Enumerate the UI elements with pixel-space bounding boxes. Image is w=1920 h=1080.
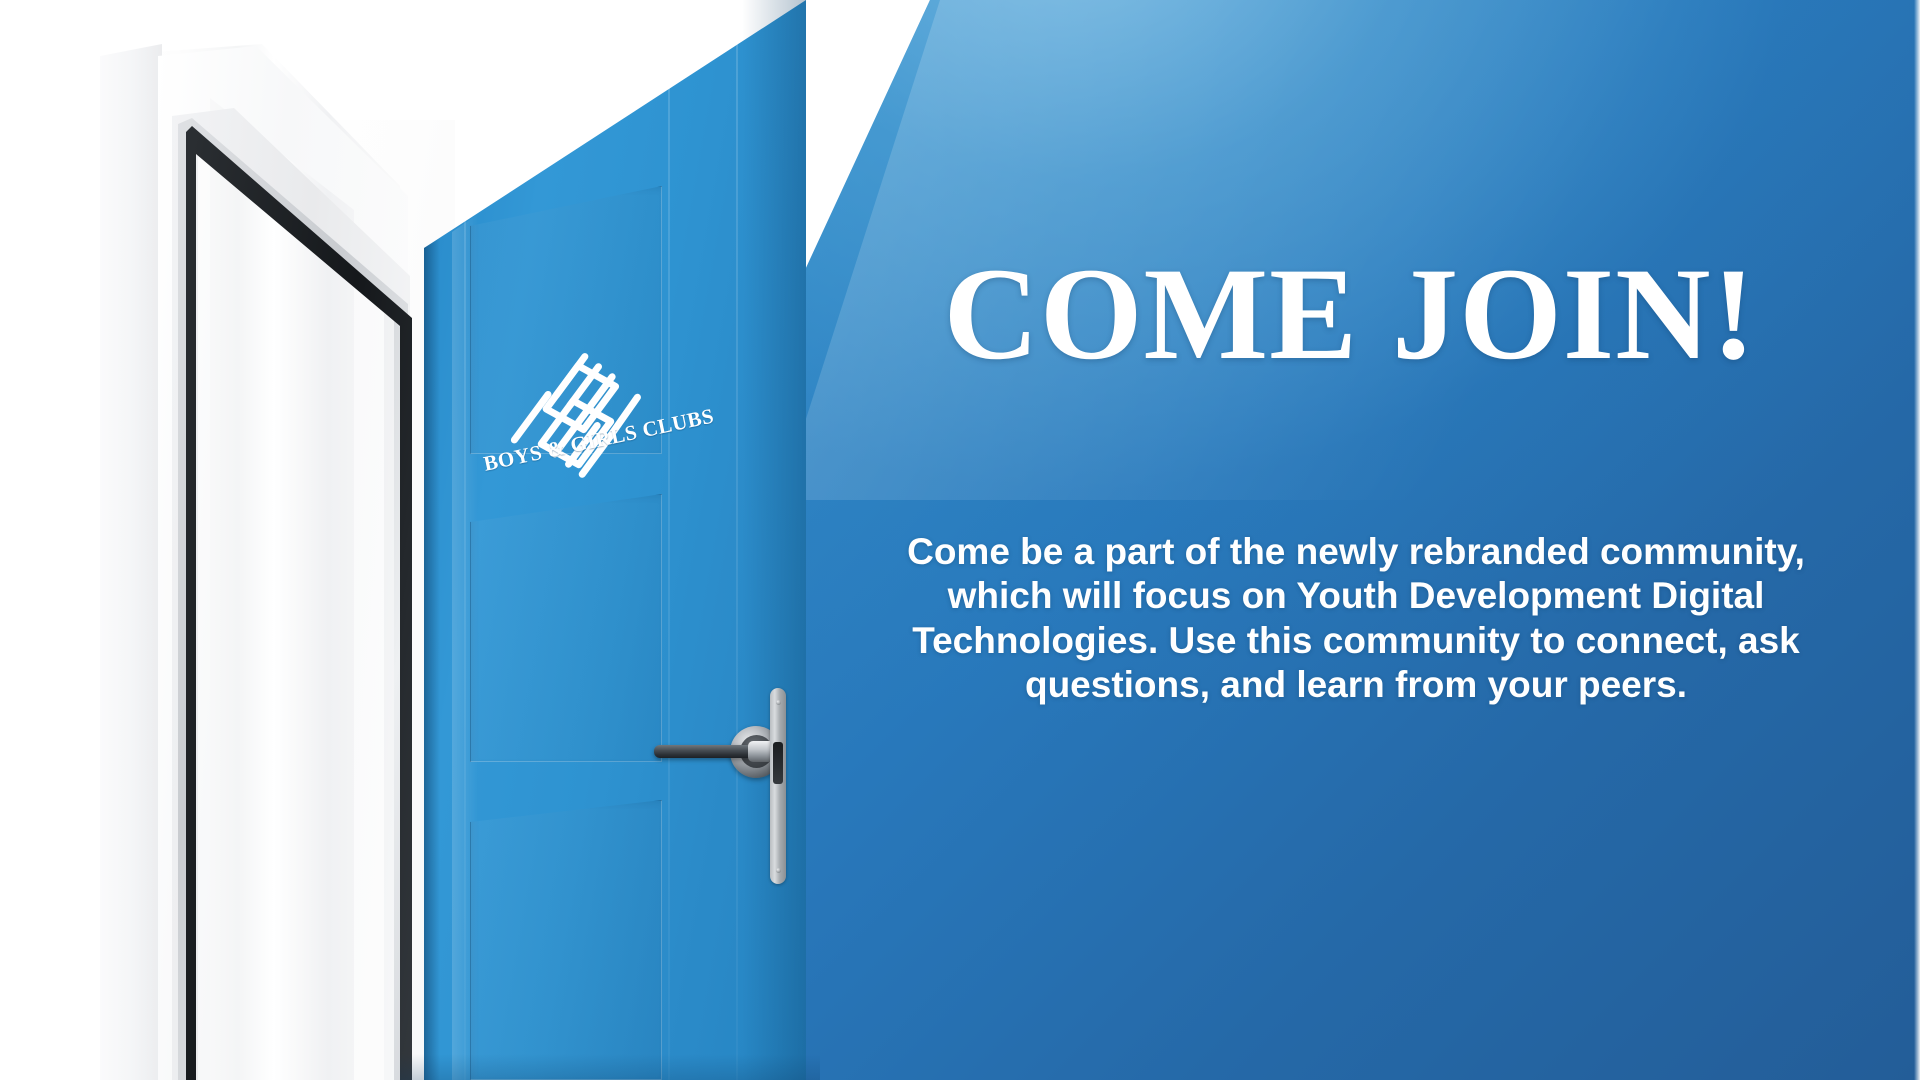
- page-title: COME JOIN!: [820, 248, 1880, 380]
- body-line: Technologies. Use this community to conn…: [912, 620, 1800, 661]
- door-frame-left-face: [100, 44, 162, 1080]
- blue-door[interactable]: [424, 0, 806, 1080]
- body-line: which will focus on Youth Development Di…: [948, 575, 1765, 616]
- body-line: Come be a part of the newly rebranded co…: [907, 531, 1805, 572]
- body-text: Come be a part of the newly rebranded co…: [816, 530, 1896, 708]
- body-line: questions, and learn from your peers.: [1025, 664, 1687, 705]
- promotional-banner: BOYS & GIRLS CLUBS COME JOIN! Come be a …: [0, 0, 1920, 1080]
- right-edge-sliver: [1914, 0, 1920, 1080]
